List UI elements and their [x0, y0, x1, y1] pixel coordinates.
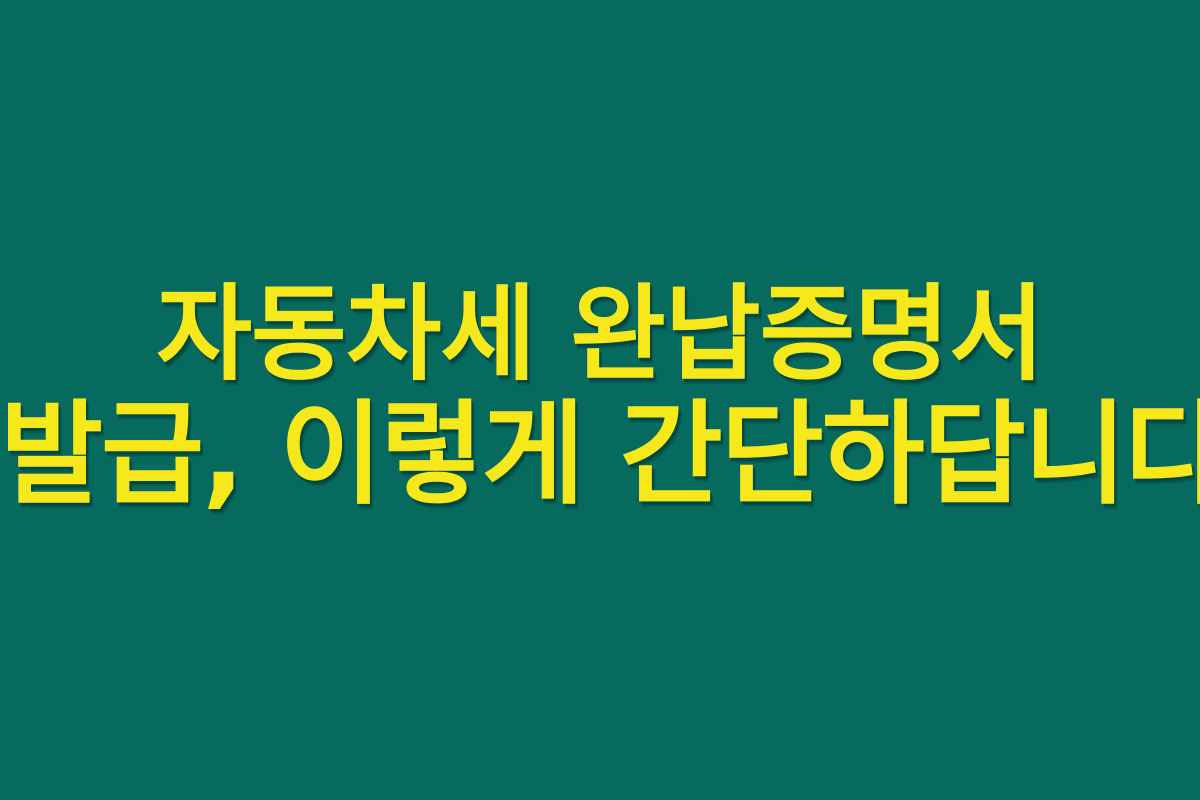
- promo-banner: 자동차세 완납증명서 발급, 이렇게 간단하답니다!: [0, 0, 1200, 800]
- headline-line-2: 발급, 이렇게 간단하답니다!: [0, 393, 1200, 518]
- headline-line-1: 자동차세 완납증명서: [0, 276, 1200, 392]
- headline-block: 자동차세 완납증명서 발급, 이렇게 간단하답니다!: [0, 276, 1200, 518]
